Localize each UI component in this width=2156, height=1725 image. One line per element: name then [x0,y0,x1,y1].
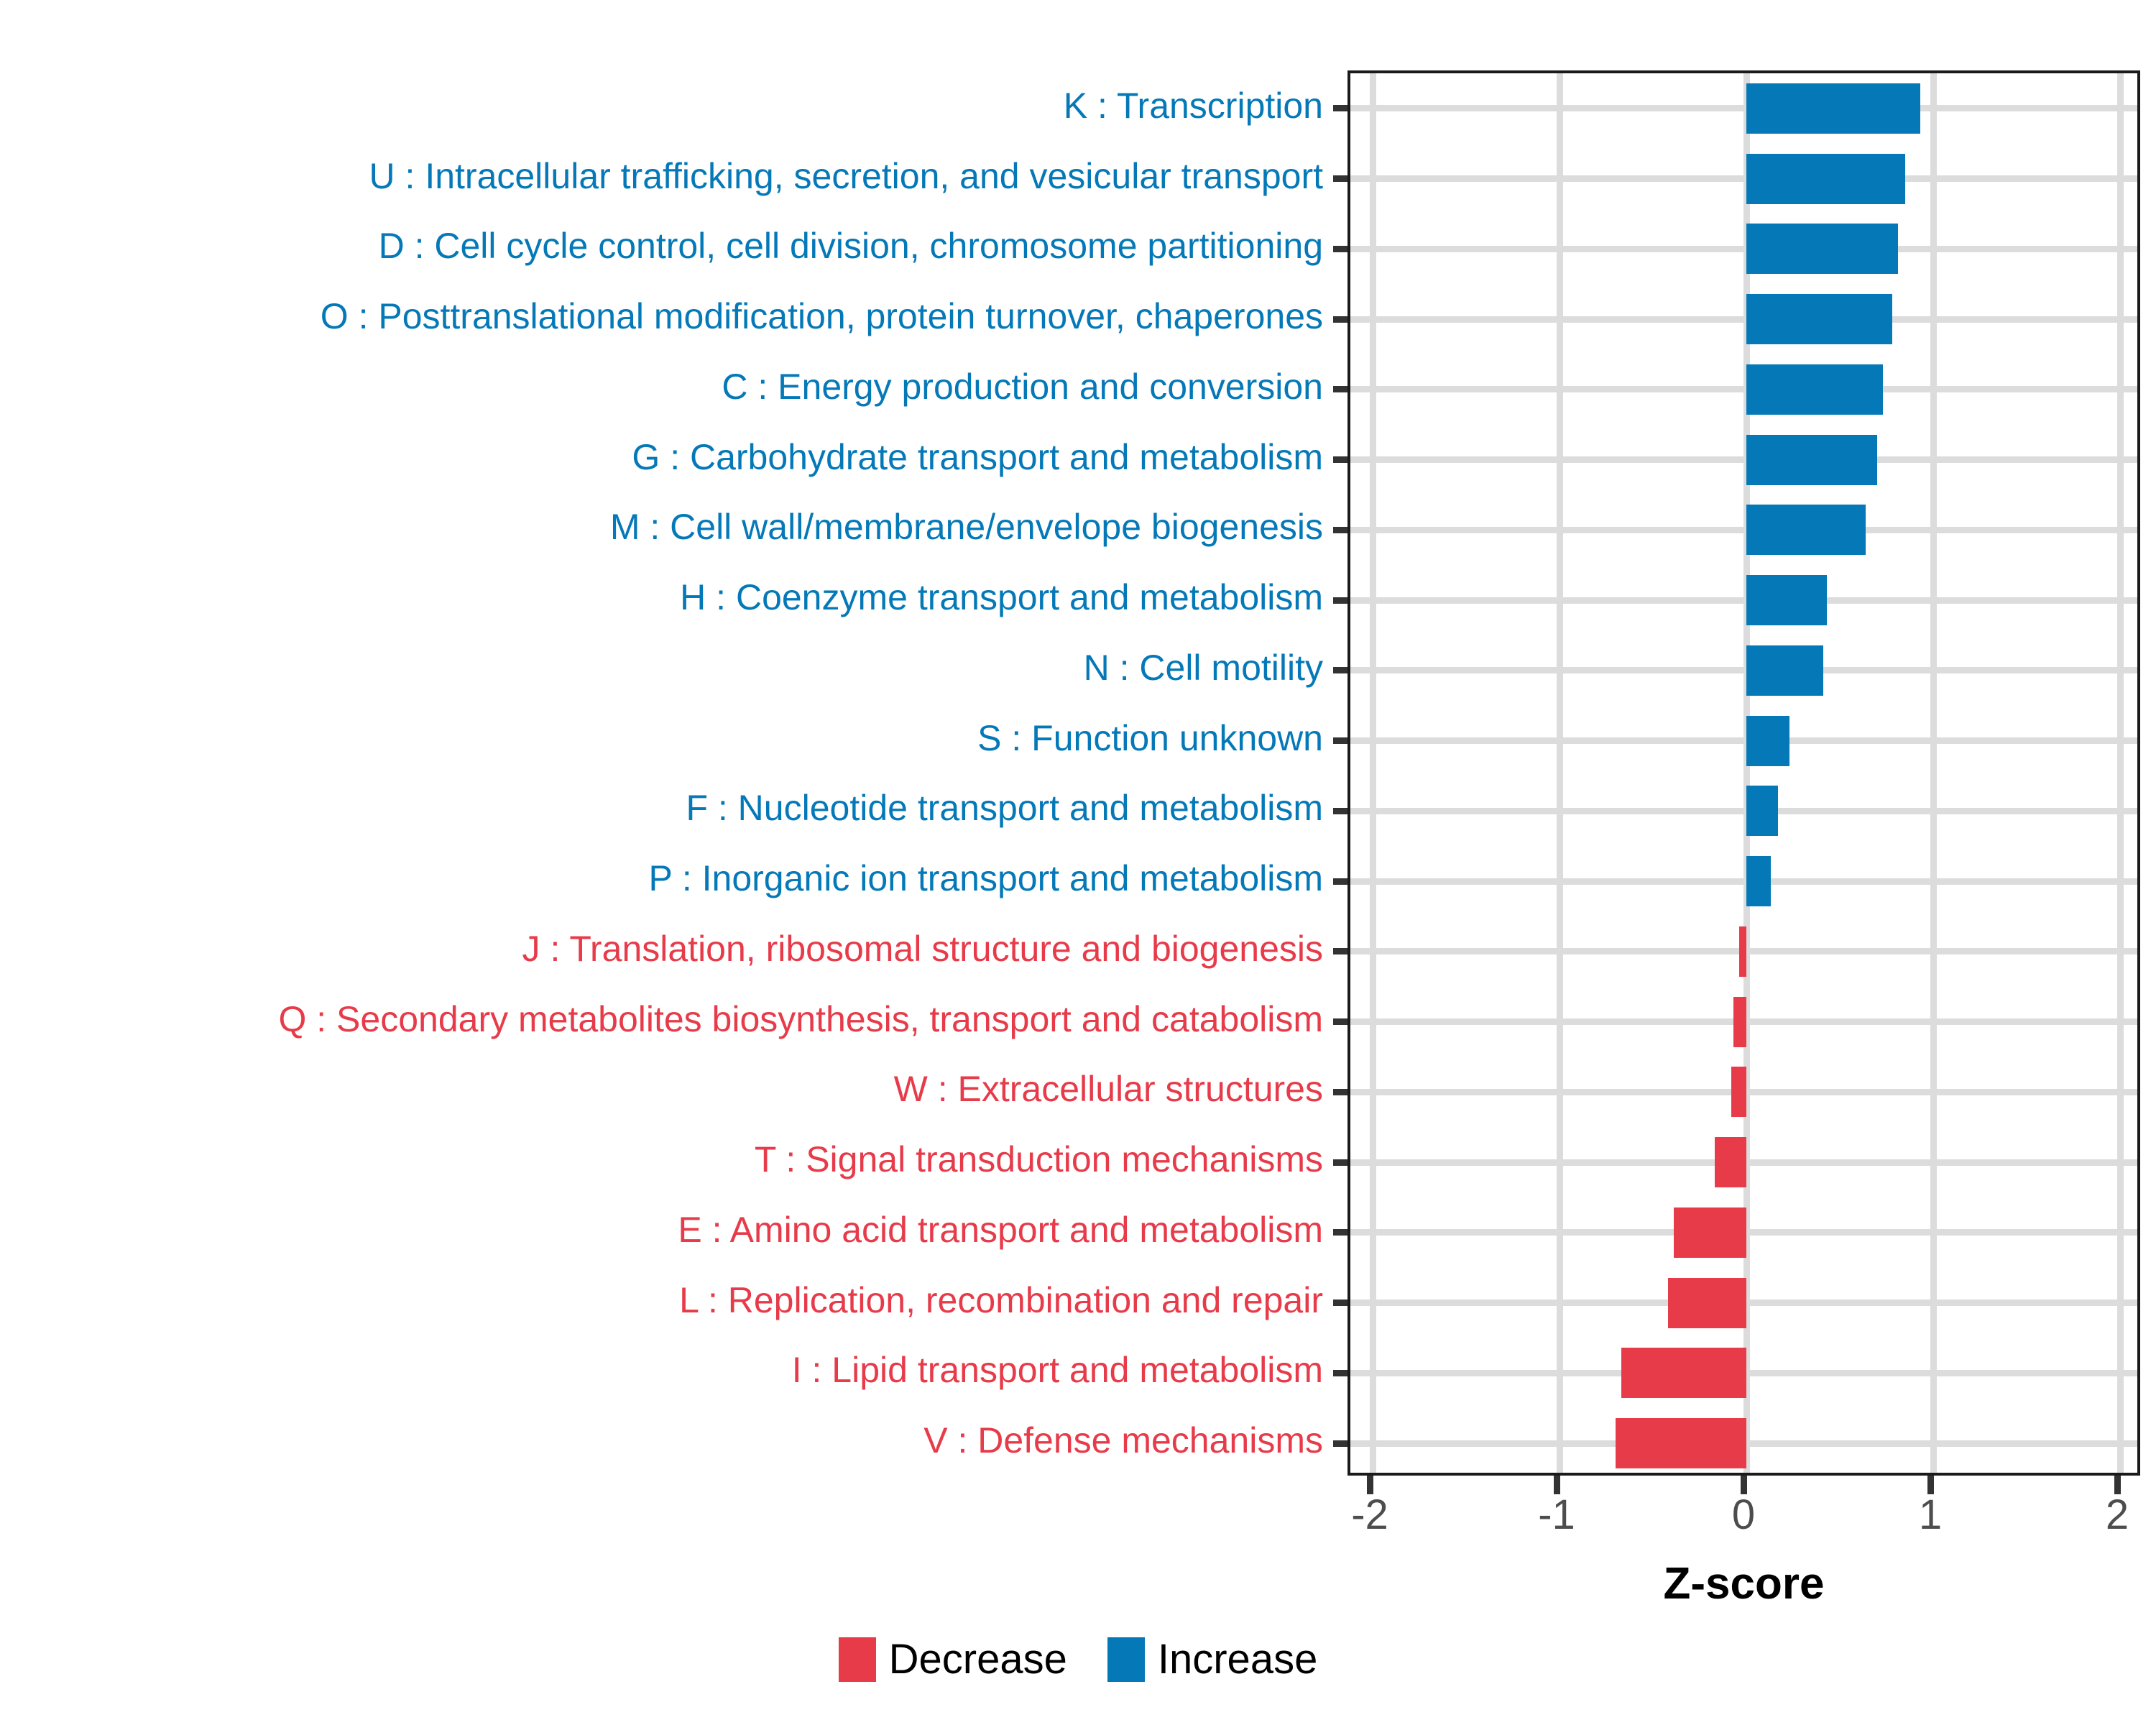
bar[interactable] [1674,1207,1746,1258]
y-axis-label: S : Function unknown [977,720,1323,756]
bar[interactable] [1746,786,1778,836]
bar[interactable] [1746,154,1905,204]
bar[interactable] [1746,505,1866,555]
y-axis-tick [1333,1089,1347,1095]
x-gridline [1370,73,1376,1473]
bar[interactable] [1715,1137,1746,1187]
y-axis-tick [1333,1018,1347,1025]
y-axis-tick [1333,597,1347,604]
x-axis-tick-labels: -2-1012 [1347,1494,2140,1545]
legend-swatch-increase [1107,1637,1145,1682]
y-axis-label-row: U : Intracellular trafficking, secretion… [0,141,1335,211]
bar[interactable] [1746,856,1771,906]
y-axis-label: P : Inorganic ion transport and metaboli… [649,860,1323,896]
y-gridline [1350,105,2137,111]
legend-item[interactable]: Increase [1107,1637,1317,1682]
bar[interactable] [1746,716,1789,766]
plot-panel-inner [1350,73,2137,1473]
x-gridline [2117,73,2124,1473]
y-axis-label: V : Defense mechanisms [923,1422,1323,1458]
bar[interactable] [1746,575,1827,625]
x-axis-tick-label: 0 [1732,1494,1755,1536]
y-axis-label-row: K : Transcription [0,70,1335,141]
x-axis-tick-label: 2 [2106,1494,2129,1536]
legend-label: Increase [1158,1639,1317,1680]
y-axis-label: L : Replication, recombination and repai… [679,1282,1323,1318]
y-axis-tick [1333,667,1347,673]
y-gridline [1350,597,2137,604]
y-axis-label: Q : Secondary metabolites biosynthesis, … [278,1001,1323,1037]
y-axis-tick [1333,948,1347,954]
y-axis-tick [1333,105,1347,111]
y-axis-tick [1333,1440,1347,1447]
bar[interactable] [1746,435,1877,485]
y-axis-label-row: C : Energy production and conversion [0,351,1335,422]
y-axis-label: K : Transcription [1064,88,1323,124]
y-axis-tick [1333,316,1347,323]
y-axis-label: G : Carbohydrate transport and metabolis… [632,439,1323,475]
y-axis-label: M : Cell wall/membrane/envelope biogenes… [610,509,1323,545]
y-axis-tick [1333,1159,1347,1166]
y-axis-label: H : Coenzyme transport and metabolism [680,579,1323,615]
y-axis-tick [1333,1370,1347,1376]
legend-swatch-decrease [839,1637,876,1682]
y-axis-tick [1333,737,1347,744]
y-axis-label-row: I : Lipid transport and metabolism [0,1335,1335,1406]
y-gridline [1350,878,2137,885]
bar[interactable] [1733,997,1746,1047]
y-axis-label: O : Posttranslational modification, prot… [321,298,1323,334]
y-axis-label: J : Translation, ribosomal structure and… [522,931,1323,967]
y-axis-tick [1333,808,1347,814]
y-gridline [1350,667,2137,673]
y-gridline [1350,386,2137,392]
y-axis-label-row: P : Inorganic ion transport and metaboli… [0,843,1335,914]
y-axis-tick [1333,1299,1347,1306]
y-axis-label: U : Intracellular trafficking, secretion… [369,158,1323,194]
y-axis-tick [1333,527,1347,533]
chart-root: K : TranscriptionU : Intracellular traff… [0,0,2156,1725]
legend-item[interactable]: Decrease [839,1637,1067,1682]
y-gridline [1350,246,2137,252]
x-axis-tick-label: -2 [1351,1494,1388,1536]
y-axis-label-row: F : Nucleotide transport and metabolism [0,773,1335,844]
y-axis-labels: K : TranscriptionU : Intracellular traff… [0,70,1335,1476]
y-gridline [1350,175,2137,182]
y-axis-label-row: H : Coenzyme transport and metabolism [0,562,1335,632]
y-gridline [1350,808,2137,814]
y-axis-label: D : Cell cycle control, cell division, c… [379,228,1323,264]
y-axis-label-row: M : Cell wall/membrane/envelope biogenes… [0,492,1335,563]
x-gridline [1743,73,1750,1473]
chart-legend: DecreaseIncrease [0,1637,2156,1682]
bar[interactable] [1616,1418,1746,1468]
x-axis-title: Z-score [1347,1558,2140,1609]
bar[interactable] [1731,1067,1746,1117]
bar[interactable] [1746,83,1920,134]
plot-panel [1347,70,2140,1476]
y-axis-label-row: O : Posttranslational modification, prot… [0,281,1335,351]
x-axis-tick-label: 1 [1919,1494,1942,1536]
y-axis-label-row: W : Extracellular structures [0,1054,1335,1125]
y-axis-tick [1333,246,1347,252]
x-gridline [1557,73,1563,1473]
y-axis-label: C : Energy production and conversion [722,369,1323,405]
bar[interactable] [1746,224,1898,274]
bar[interactable] [1739,926,1746,977]
bar[interactable] [1746,294,1892,344]
y-axis-tick [1333,456,1347,463]
y-axis-label: W : Extracellular structures [894,1071,1323,1107]
y-axis-label-row: S : Function unknown [0,703,1335,773]
y-axis-tick [1333,386,1347,392]
y-axis-label-row: D : Cell cycle control, cell division, c… [0,211,1335,282]
bar[interactable] [1621,1348,1746,1398]
y-axis-label-row: J : Translation, ribosomal structure and… [0,914,1335,984]
y-gridline [1350,527,2137,533]
y-axis-tick [1333,1229,1347,1236]
y-axis-label: F : Nucleotide transport and metabolism [686,790,1323,826]
y-axis-label-row: N : Cell motility [0,632,1335,703]
y-axis-label-row: V : Defense mechanisms [0,1405,1335,1476]
y-axis-label-row: Q : Secondary metabolites biosynthesis, … [0,984,1335,1054]
y-axis-label: T : Signal transduction mechanisms [755,1141,1323,1177]
legend-label: Decrease [889,1639,1067,1680]
y-axis-label: I : Lipid transport and metabolism [792,1352,1323,1388]
x-gridline [1930,73,1937,1473]
y-axis-label-row: G : Carbohydrate transport and metabolis… [0,422,1335,492]
x-axis-tick-label: -1 [1538,1494,1575,1536]
y-gridline [1350,737,2137,744]
bar[interactable] [1746,364,1883,415]
y-gridline [1350,456,2137,463]
y-axis-label-row: E : Amino acid transport and metabolism [0,1195,1335,1265]
y-axis-label: E : Amino acid transport and metabolism [678,1212,1323,1248]
y-axis-tick [1333,878,1347,885]
y-gridline [1350,316,2137,323]
y-axis-label-row: L : Replication, recombination and repai… [0,1265,1335,1335]
y-axis-tick [1333,175,1347,182]
bar[interactable] [1668,1278,1746,1328]
y-axis-label: N : Cell motility [1084,650,1323,686]
y-axis-label-row: T : Signal transduction mechanisms [0,1124,1335,1195]
bar[interactable] [1746,645,1823,696]
